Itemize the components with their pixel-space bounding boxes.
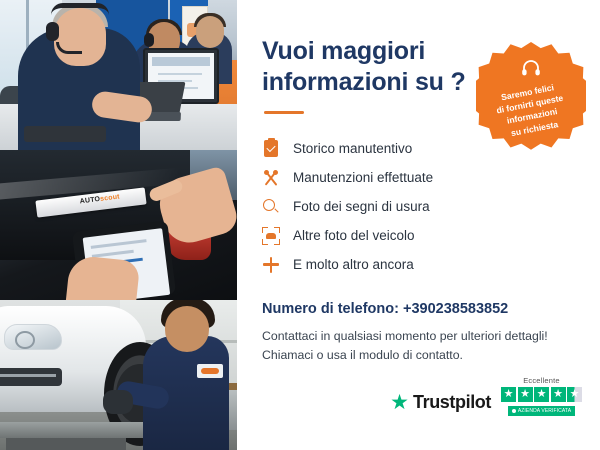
phone-line: Numero di telefono: +390238583852 xyxy=(262,301,580,317)
trustpilot-logo: ★ Trustpilot xyxy=(390,392,491,416)
crossed-tools-icon xyxy=(262,169,280,187)
headset-icon xyxy=(521,59,541,82)
star-icon-half: ★ xyxy=(567,387,582,402)
verified-label: AZIENDA VERIFICATA xyxy=(518,408,571,414)
list-item: Manutenzioni effettuate xyxy=(262,163,580,192)
list-item: E molto altro ancora xyxy=(262,250,580,279)
headline-line-2: informazioni su ? xyxy=(262,68,466,96)
magnifier-icon xyxy=(262,198,280,216)
promo-card: AUTOscout Vuoi maggiori info xyxy=(0,0,600,450)
list-item-label: Foto dei segni di usura xyxy=(293,199,430,214)
contact-subtext: Contattaci in qualsiasi momento per ulte… xyxy=(262,327,580,365)
keyboard-decor xyxy=(24,126,106,142)
headline-line-1: Vuoi maggiori xyxy=(262,37,425,65)
rating-caption: Eccellente xyxy=(523,376,560,385)
title-underline xyxy=(264,111,304,114)
list-item: Altre foto del veicolo xyxy=(262,221,580,250)
list-item-label: E molto altro ancora xyxy=(293,257,414,272)
content-panel: Vuoi maggiori informazioni su ? Saremo f… xyxy=(237,0,600,450)
star-icon: ★ xyxy=(551,387,566,402)
star-icon: ★ xyxy=(518,387,533,402)
phone-number[interactable]: +390238583852 xyxy=(403,301,508,317)
contact-subtext-line-2: Chiamaci o usa il modulo di contatto. xyxy=(262,346,580,365)
camera-frame-icon xyxy=(262,227,280,245)
feature-list: Storico manutentivo Manutenzioni effettu… xyxy=(262,134,580,279)
trustpilot-widget[interactable]: ★ Trustpilot Eccellente ★ ★ ★ ★ ★ AZIEND… xyxy=(390,376,582,416)
clipboard-check-icon xyxy=(262,140,280,158)
star-icon: ★ xyxy=(534,387,549,402)
contact-subtext-line-1: Contattaci in qualsiasi momento per ulte… xyxy=(262,327,580,346)
rating-stars: ★ ★ ★ ★ ★ xyxy=(501,387,582,402)
trustpilot-rating: Eccellente ★ ★ ★ ★ ★ AZIENDA VERIFICATA xyxy=(501,376,582,416)
list-item-label: Altre foto del veicolo xyxy=(293,228,415,243)
list-item: Foto dei segni di usura xyxy=(262,192,580,221)
star-icon: ★ xyxy=(501,387,516,402)
car-lift-decor xyxy=(0,422,150,438)
check-icon xyxy=(512,409,516,413)
phone-label: Numero di telefono: xyxy=(262,301,399,317)
mechanic-decor xyxy=(143,336,229,450)
photo-column: AUTOscout xyxy=(0,0,237,450)
vehicle-inspection-photo: AUTOscout xyxy=(0,150,237,300)
request-info-badge: Saremo felici di fornirti queste informa… xyxy=(476,42,586,152)
list-item-label: Storico manutentivo xyxy=(293,141,412,156)
list-item-label: Manutenzioni effettuate xyxy=(293,170,433,185)
verified-company-badge: AZIENDA VERIFICATA xyxy=(508,406,575,416)
plus-icon xyxy=(262,256,280,274)
garage-wheel-photo xyxy=(0,300,237,450)
call-center-photo xyxy=(0,0,237,150)
trustpilot-wordmark: Trustpilot xyxy=(413,392,491,413)
trustpilot-star-icon: ★ xyxy=(390,392,409,413)
